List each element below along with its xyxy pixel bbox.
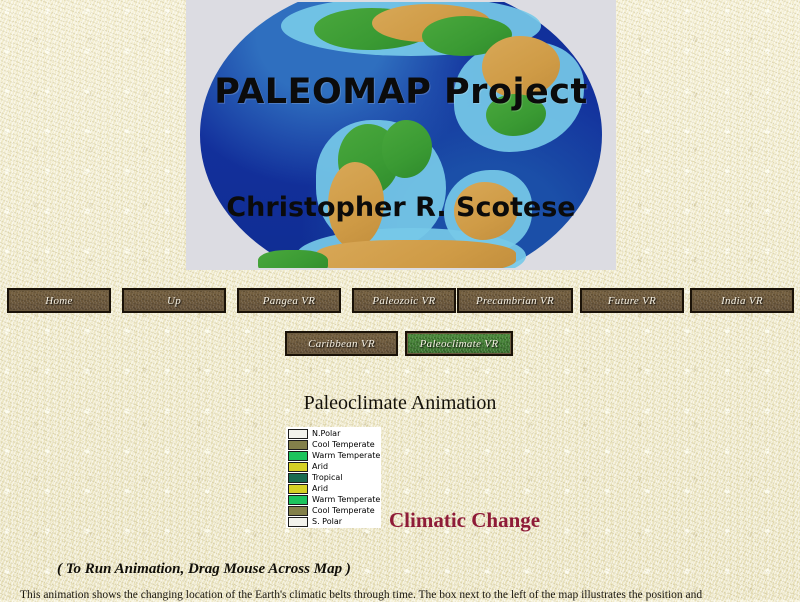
nav-button-caribbean-vr[interactable]: Caribbean VR	[285, 331, 398, 356]
legend-swatch	[288, 473, 308, 483]
nav-button-label: Pangea VR	[263, 295, 316, 307]
legend-swatch	[288, 451, 308, 461]
nav-button-precambrian-vr[interactable]: Precambrian VR	[457, 288, 573, 313]
legend-swatch	[288, 429, 308, 439]
nav-button-label: Future VR	[608, 295, 656, 307]
run-animation-note: ( To Run Animation, Drag Mouse Across Ma…	[57, 561, 351, 578]
nav-button-label: Precambrian VR	[476, 295, 554, 307]
nav-button-label: Paleoclimate VR	[420, 338, 499, 350]
legend-label: S. Polar	[312, 517, 342, 527]
legend-label: Cool Temperate	[312, 440, 375, 450]
legend-label: N.Polar	[312, 429, 340, 439]
legend-label: Tropical	[312, 473, 343, 483]
legend-swatch	[288, 440, 308, 450]
legend-row: Tropical	[286, 472, 381, 483]
climate-belt-legend: N.PolarCool TemperateWarm TemperateAridT…	[286, 427, 381, 528]
legend-row: Cool Temperate	[286, 439, 381, 450]
nav-row-primary: HomeUpPangea VRPaleozoic VRPrecambrian V…	[0, 288, 800, 313]
nav-button-label: Home	[45, 295, 72, 307]
landmass-south-belt	[316, 240, 516, 268]
nav-button-label: Caribbean VR	[308, 338, 375, 350]
legend-label: Warm Temperate	[312, 451, 380, 461]
legend-swatch	[288, 484, 308, 494]
legend-label: Arid	[312, 462, 328, 472]
legend-label: Cool Temperate	[312, 506, 375, 516]
page-title: Paleoclimate Animation	[0, 392, 800, 415]
banner-title: PALEOMAP Project	[186, 72, 616, 112]
nav-button-paleozoic-vr[interactable]: Paleozoic VR	[352, 288, 456, 313]
legend-row: S. Polar	[286, 516, 381, 527]
nav-button-future-vr[interactable]: Future VR	[580, 288, 684, 313]
legend-swatch	[288, 495, 308, 505]
nav-button-paleoclimate-vr[interactable]: Paleoclimate VR	[405, 331, 513, 356]
landmass-south-green	[258, 250, 328, 268]
paleomap-banner: PALEOMAP Project Christopher R. Scotese	[186, 0, 616, 270]
nav-button-home[interactable]: Home	[7, 288, 111, 313]
globe-image	[186, 2, 616, 268]
banner-author: Christopher R. Scotese	[186, 192, 616, 223]
legend-row: Cool Temperate	[286, 505, 381, 516]
legend-swatch	[288, 506, 308, 516]
nav-button-india-vr[interactable]: India VR	[690, 288, 794, 313]
climatic-change-heading: Climatic Change	[389, 508, 540, 533]
nav-button-label: India VR	[721, 295, 763, 307]
nav-row-secondary: Caribbean VRPaleoclimate VR	[0, 331, 800, 356]
description-paragraph: This animation shows the changing locati…	[20, 589, 780, 602]
legend-swatch	[288, 517, 308, 527]
legend-label: Arid	[312, 484, 328, 494]
legend-row: Warm Temperate	[286, 494, 381, 505]
legend-row: N.Polar	[286, 428, 381, 439]
nav-button-label: Up	[167, 295, 181, 307]
nav-button-label: Paleozoic VR	[372, 295, 435, 307]
nav-button-pangea-vr[interactable]: Pangea VR	[237, 288, 341, 313]
legend-row: Warm Temperate	[286, 450, 381, 461]
legend-label: Warm Temperate	[312, 495, 380, 505]
legend-swatch	[288, 462, 308, 472]
legend-row: Arid	[286, 461, 381, 472]
legend-row: Arid	[286, 483, 381, 494]
nav-button-up[interactable]: Up	[122, 288, 226, 313]
